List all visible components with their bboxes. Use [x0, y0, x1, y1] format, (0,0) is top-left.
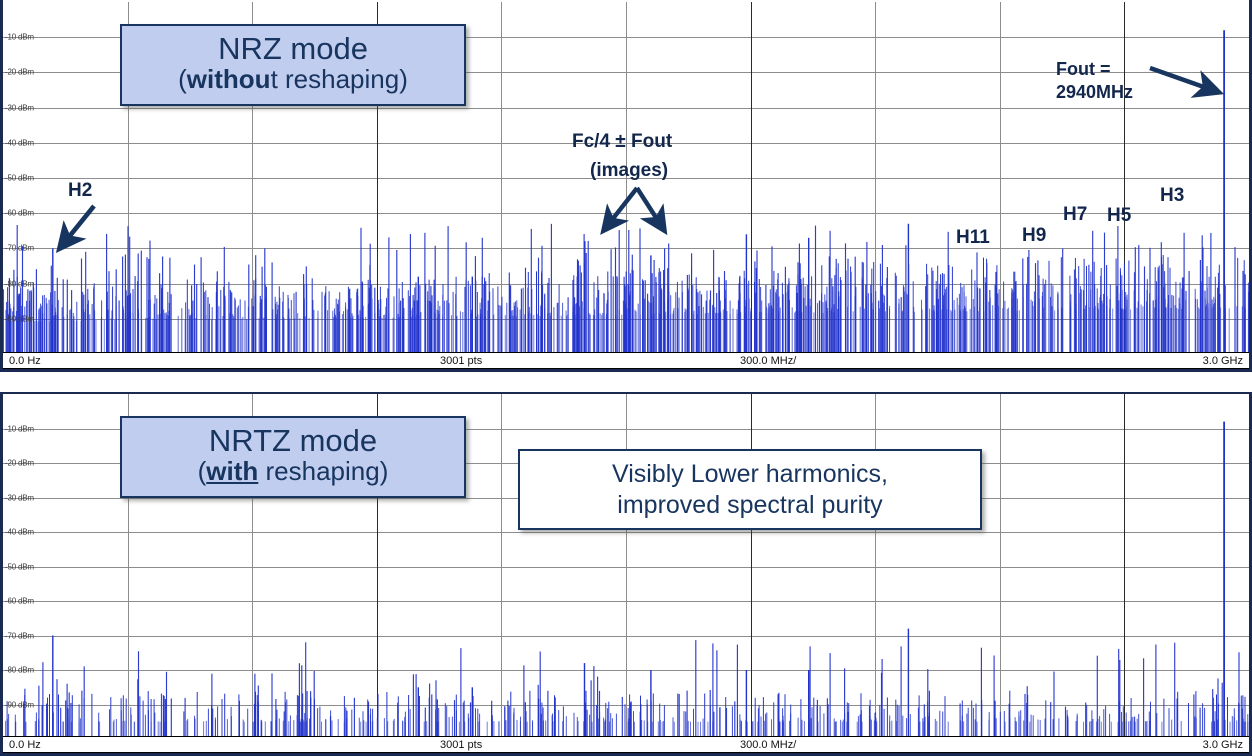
- mode-sub-prefix: (: [198, 456, 207, 486]
- marker-label-h2: H2: [68, 180, 92, 202]
- fout-line2: 2940MHz: [1056, 81, 1133, 104]
- x-axis-points-label: 3001 pts: [440, 355, 482, 367]
- fout-line1: Fout =: [1056, 58, 1133, 81]
- mode-title: NRTZ mode: [134, 424, 452, 457]
- note-line-2: improved spectral purity: [534, 490, 966, 521]
- mode-title: NRZ mode: [134, 32, 452, 65]
- y-axis-tick-label: -20 dBm: [5, 68, 34, 77]
- x-axis-perdiv-label: 300.0 MHz/: [740, 739, 796, 751]
- y-axis-tick-label: -60 dBm: [5, 597, 34, 606]
- mode-callout-nrtz: NRTZ mode (with reshaping): [120, 416, 466, 498]
- marker-label-h5: H5: [1107, 205, 1131, 227]
- mode-sub-bold: with: [206, 456, 258, 486]
- panel-border-bottom: [0, 369, 1252, 372]
- marker-arrow-images: [592, 186, 684, 248]
- mode-subtitle: (without reshaping): [134, 65, 452, 94]
- marker-label-h11: H11: [956, 227, 990, 249]
- y-axis-tick-label: -80 dBm: [5, 280, 34, 289]
- y-axis-tick-label: -80 dBm: [5, 666, 34, 675]
- mode-sub-bold: withou: [187, 64, 271, 94]
- axis-footer-nrtz: 0.0 Hz 3001 pts 300.0 MHz/ 3.0 GHz: [3, 736, 1249, 753]
- y-axis-tick-label: -10 dBm: [5, 425, 34, 434]
- marker-label-h7: H7: [1063, 204, 1087, 226]
- y-axis-tick-label: -10 dBm: [5, 33, 34, 42]
- spectrum-panel-nrz: -10 dBm-20 dBm-30 dBm-40 dBm-50 dBm-60 d…: [0, 0, 1252, 372]
- marker-arrow-fout: [1146, 62, 1236, 106]
- marker-label-images-line1: Fc/4 ± Fout: [572, 131, 672, 153]
- figure-root: -10 dBm-20 dBm-30 dBm-40 dBm-50 dBm-60 d…: [0, 0, 1252, 756]
- y-axis-tick-label: -30 dBm: [5, 104, 34, 113]
- y-axis-tick-label: -50 dBm: [5, 563, 34, 572]
- mode-subtitle: (with reshaping): [134, 457, 452, 486]
- marker-label-images-line2: (images): [590, 160, 668, 182]
- y-axis-tick-label: -40 dBm: [5, 139, 34, 148]
- mode-sub-rest: reshaping): [258, 456, 388, 486]
- y-axis-tick-label: -30 dBm: [5, 494, 34, 503]
- y-axis-tick-label: -90 dBm: [5, 701, 34, 710]
- y-axis-tick-label: -90 dBm: [5, 315, 34, 324]
- x-axis-start-label: 0.0 Hz: [9, 355, 41, 367]
- marker-label-h3: H3: [1160, 185, 1184, 207]
- mode-callout-nrz: NRZ mode (without reshaping): [120, 24, 466, 106]
- y-axis-tick-label: -70 dBm: [5, 632, 34, 641]
- axis-footer-nrz: 0.0 Hz 3001 pts 300.0 MHz/ 3.0 GHz: [3, 352, 1249, 369]
- y-axis-tick-label: -20 dBm: [5, 459, 34, 468]
- y-axis-tick-label: -70 dBm: [5, 244, 34, 253]
- x-axis-stop-label: 3.0 GHz: [1203, 739, 1243, 751]
- spectrum-panel-nrtz: -10 dBm-20 dBm-30 dBm-40 dBm-50 dBm-60 d…: [0, 392, 1252, 756]
- marker-label-h9: H9: [1022, 225, 1046, 247]
- mode-sub-rest: t reshaping): [271, 64, 408, 94]
- x-axis-start-label: 0.0 Hz: [9, 739, 41, 751]
- note-line-1: Visibly Lower harmonics,: [534, 459, 966, 490]
- y-axis-tick-label: -60 dBm: [5, 209, 34, 218]
- marker-label-fout: Fout = 2940MHz: [1056, 58, 1133, 103]
- marker-arrow-h2: [50, 200, 102, 260]
- x-axis-stop-label: 3.0 GHz: [1203, 355, 1243, 367]
- y-axis-tick-label: -40 dBm: [5, 528, 34, 537]
- note-callout-spectral-purity: Visibly Lower harmonics, improved spectr…: [518, 449, 982, 530]
- mode-sub-prefix: (: [178, 64, 187, 94]
- y-axis-tick-label: -50 dBm: [5, 174, 34, 183]
- x-axis-perdiv-label: 300.0 MHz/: [740, 355, 796, 367]
- x-axis-points-label: 3001 pts: [440, 739, 482, 751]
